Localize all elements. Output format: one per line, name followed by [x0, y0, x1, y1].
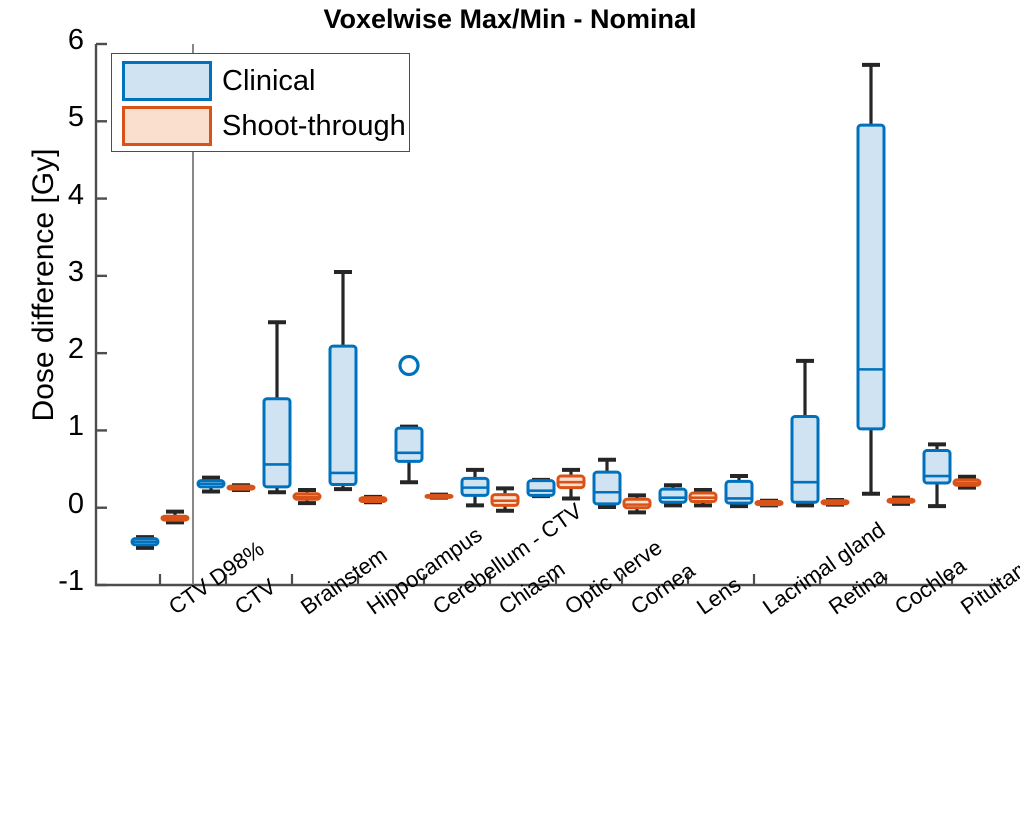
legend-label-clinical: Clinical: [222, 67, 315, 96]
box-plot: [396, 357, 422, 483]
box-plot: [822, 500, 848, 505]
box-plot: [594, 460, 620, 507]
box-plot: [690, 490, 716, 505]
box-plot: [660, 485, 686, 505]
legend-label-shoot-through: Shoot-through: [222, 112, 406, 141]
box-plot: [198, 478, 224, 492]
y-tick-label: 3: [14, 256, 84, 289]
y-tick-label: 5: [14, 101, 84, 134]
box-plot: [360, 497, 386, 502]
box-plot: [228, 485, 254, 490]
y-tick-label: 4: [14, 179, 84, 212]
legend-item-clinical[interactable]: Clinical: [122, 60, 315, 102]
box-plot: [792, 361, 818, 506]
box-plot: [462, 470, 488, 506]
box-plot: [756, 501, 782, 506]
legend-item-shoot-through[interactable]: Shoot-through: [122, 105, 406, 147]
y-tick-label: 0: [14, 488, 84, 521]
box-plot: [726, 476, 752, 506]
box-plot: [888, 498, 914, 504]
legend: Clinical Shoot-through: [111, 53, 410, 152]
legend-swatch-shoot-through: [122, 106, 212, 146]
y-tick-label: 1: [14, 410, 84, 443]
box-plot: [858, 65, 884, 494]
y-tick-label: 2: [14, 333, 84, 366]
box-plot: [132, 537, 158, 548]
box-plot: [954, 477, 980, 488]
box-plot: [558, 470, 584, 499]
box-plot: [924, 444, 950, 506]
box-plot: [162, 512, 188, 523]
box-plot: [624, 495, 650, 512]
outlier-marker: [400, 357, 418, 375]
chart-figure: Voxelwise Max/Min - Nominal Dose differe…: [0, 0, 1020, 816]
box-plot: [492, 488, 518, 510]
y-tick-label: -1: [14, 565, 84, 598]
box-plot: [426, 495, 452, 498]
box-plot: [264, 322, 290, 492]
box-plot: [330, 272, 356, 489]
y-tick-label: 6: [14, 24, 84, 57]
box-plot: [294, 490, 320, 503]
box-plot: [528, 480, 554, 496]
legend-swatch-clinical: [122, 61, 212, 101]
